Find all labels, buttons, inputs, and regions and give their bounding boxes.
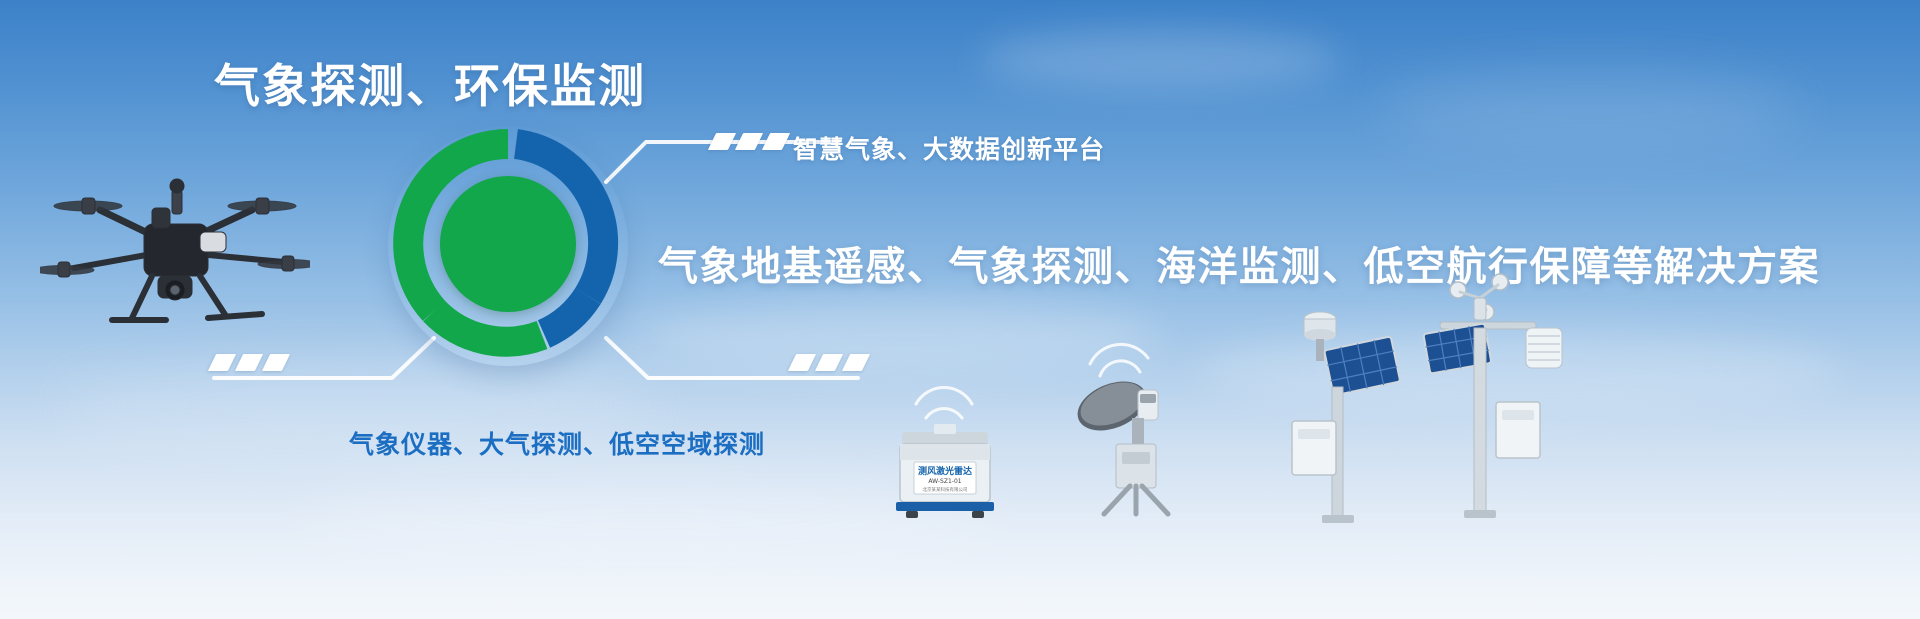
label-solutions: 气象地基遥感、气象探测、海洋监测、低空航行保障等解决方案 <box>658 234 1820 292</box>
weather-monitoring-banner: 气象探测、环保监测 <box>0 0 1920 619</box>
slash-marks-bottom-left <box>212 354 286 371</box>
slash-2 <box>235 354 263 371</box>
svg-text:北京某某科技有限公司: 北京某某科技有限公司 <box>923 486 968 493</box>
slash-1 <box>208 354 236 371</box>
slash-marks-top <box>712 133 786 150</box>
slash-1 <box>788 354 816 371</box>
drone-uav-icon <box>40 150 310 350</box>
slash-2 <box>735 133 763 150</box>
cloud-wisp-2 <box>1380 70 1800 150</box>
cloud-wisp-1 <box>980 30 1340 90</box>
slash-1 <box>708 133 736 150</box>
slash-2 <box>815 354 843 371</box>
slash-3 <box>762 133 790 150</box>
solar-weather-station-icon <box>1270 295 1410 525</box>
label-smart-meteorology: 智慧气象、大数据创新平台 <box>793 130 1105 166</box>
ring-core-circle <box>440 176 576 312</box>
svg-text:测风激光雷达: 测风激光雷达 <box>918 465 972 477</box>
svg-text:AW-SZ1-01: AW-SZ1-01 <box>928 478 961 485</box>
mobile-lidar-cabinet-icon: 测风激光雷达 AW-SZ1-01 北京某某科技有限公司 <box>880 370 1010 520</box>
slash-marks-bottom-right <box>792 354 866 371</box>
donut-ring-diagram <box>392 128 624 360</box>
page-title: 气象探测、环保监测 <box>214 50 646 116</box>
slash-3 <box>842 354 870 371</box>
anemometer-weather-mast-icon <box>1400 272 1600 522</box>
satellite-dish-tripod-icon <box>1060 318 1210 518</box>
label-instruments: 气象仪器、大气探测、低空空域探测 <box>349 425 765 461</box>
slash-3 <box>262 354 290 371</box>
